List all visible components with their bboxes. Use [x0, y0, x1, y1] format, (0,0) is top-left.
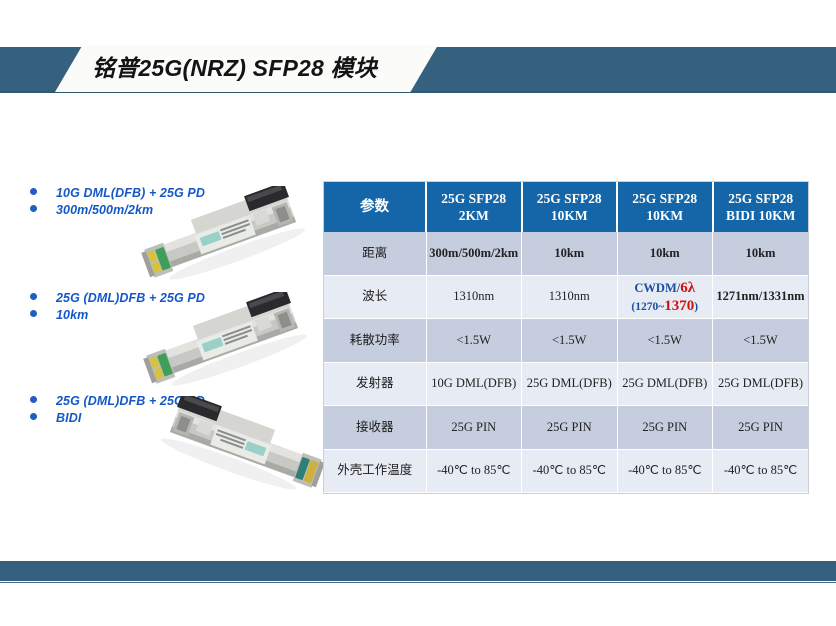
column-header-line1: 25G SFP28: [441, 191, 506, 206]
cell-value: -40℃ to 85℃: [617, 449, 713, 493]
cell-value: 1310nm: [426, 275, 522, 319]
cwdm-range-hi: 1370: [664, 298, 694, 314]
column-header-line1: 25G SFP28: [632, 191, 697, 206]
cell-value: 10km: [713, 232, 809, 275]
column-header-line2: BIDI 10KM: [726, 208, 795, 223]
sfp28-module-photo-2km: [138, 186, 318, 282]
bullet-dot-icon: [30, 413, 37, 420]
cwdm-range-open: (1270~: [631, 301, 664, 313]
column-header-line1: 25G SFP28: [537, 191, 602, 206]
column-header-2km: 25G SFP28 2KM: [426, 182, 522, 232]
cell-value: -40℃ to 85℃: [426, 449, 522, 493]
table-row: 波长 1310nm 1310nm CWDM/6λ (1270~1370) 127…: [324, 275, 808, 319]
cwdm-line2: (1270~1370): [620, 297, 711, 315]
bullet-dot-icon: [30, 205, 37, 212]
column-header-line2: 10KM: [646, 208, 683, 223]
column-header-10km-a: 25G SFP28 10KM: [522, 182, 618, 232]
feature-line: 10km: [56, 308, 88, 322]
column-header-param: 参数: [324, 182, 426, 232]
cell-value: 25G PIN: [617, 406, 713, 450]
cell-value: 25G DML(DFB): [617, 362, 713, 406]
row-label: 距离: [324, 232, 426, 275]
cell-value: -40℃ to 85℃: [522, 449, 618, 493]
feature-line: BIDI: [56, 411, 81, 425]
column-header-line2: 10KM: [551, 208, 588, 223]
cell-value: 25G PIN: [713, 406, 809, 450]
column-header-bidi-10km: 25G SFP28 BIDI 10KM: [713, 182, 809, 232]
page-title: 铭普25G(NRZ) SFP28 模块: [92, 46, 422, 91]
cell-value: 10G DML(DFB): [426, 362, 522, 406]
cell-value: 25G PIN: [426, 406, 522, 450]
cwdm-prefix: CWDM/: [634, 281, 680, 295]
spec-table: 参数 25G SFP28 2KM 25G SFP28 10KM 25G SFP2…: [324, 182, 808, 493]
bullet-dot-icon: [30, 188, 37, 195]
cell-value: 1271nm/1331nm: [713, 275, 809, 319]
cell-value: -40℃ to 85℃: [713, 449, 809, 493]
column-header-line1: 25G SFP28: [728, 191, 793, 206]
row-label: 发射器: [324, 362, 426, 406]
cell-value: 25G PIN: [522, 406, 618, 450]
cell-value: 300m/500m/2km: [426, 232, 522, 275]
bullet-dot-icon: [30, 396, 37, 403]
table-header-row: 参数 25G SFP28 2KM 25G SFP28 10KM 25G SFP2…: [324, 182, 808, 232]
sfp28-module-photo-bidi: [148, 396, 328, 492]
cwdm-lambda: 6λ: [680, 280, 695, 296]
table-row: 发射器 10G DML(DFB) 25G DML(DFB) 25G DML(DF…: [324, 362, 808, 406]
cwdm-range-close: ): [694, 301, 698, 313]
cell-value-cwdm: CWDM/6λ (1270~1370): [617, 275, 713, 319]
cell-value: 25G DML(DFB): [522, 362, 618, 406]
cwdm-line1: CWDM/6λ: [620, 279, 711, 297]
cell-value: <1.5W: [426, 319, 522, 363]
column-header-line2: 2KM: [459, 208, 489, 223]
cell-value: 10km: [617, 232, 713, 275]
bullet-dot-icon: [30, 310, 37, 317]
footer-bar: [0, 561, 836, 581]
row-label: 波长: [324, 275, 426, 319]
cell-value: <1.5W: [522, 319, 618, 363]
table-row: 距离 300m/500m/2km 10km 10km 10km: [324, 232, 808, 275]
sfp28-module-photo-10km: [140, 292, 320, 388]
row-label: 耗散功率: [324, 319, 426, 363]
cell-value: <1.5W: [713, 319, 809, 363]
column-header-10km-b: 25G SFP28 10KM: [617, 182, 713, 232]
table-row: 外壳工作温度 -40℃ to 85℃ -40℃ to 85℃ -40℃ to 8…: [324, 449, 808, 493]
row-label: 接收器: [324, 406, 426, 450]
table-row: 接收器 25G PIN 25G PIN 25G PIN 25G PIN: [324, 406, 808, 450]
cell-value: 1310nm: [522, 275, 618, 319]
footer-bar-underline: [0, 582, 836, 583]
cell-value: 25G DML(DFB): [713, 362, 809, 406]
cell-value: <1.5W: [617, 319, 713, 363]
row-label: 外壳工作温度: [324, 449, 426, 493]
bullet-dot-icon: [30, 293, 37, 300]
cell-value: 10km: [522, 232, 618, 275]
table-row: 耗散功率 <1.5W <1.5W <1.5W <1.5W: [324, 319, 808, 363]
